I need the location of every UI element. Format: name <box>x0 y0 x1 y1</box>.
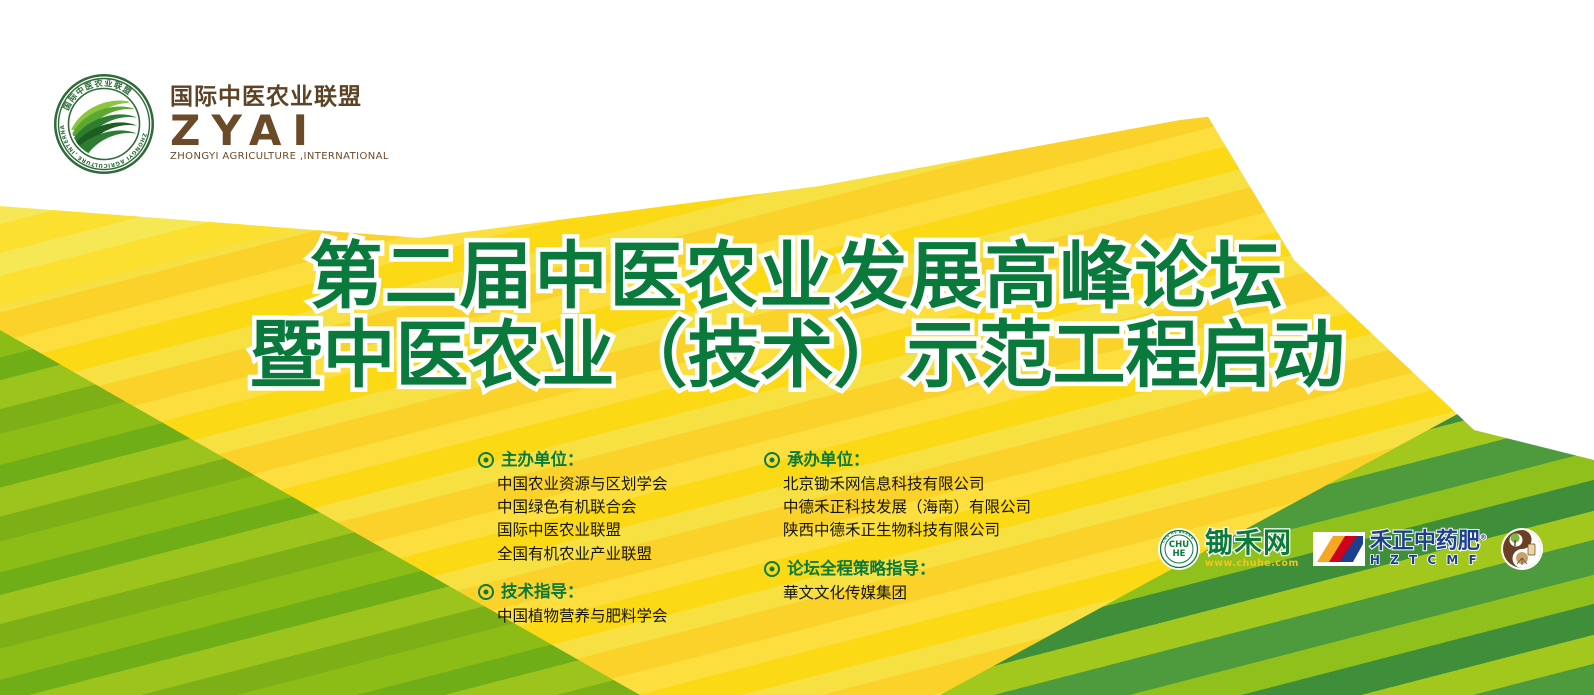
info-header: 主办单位： <box>478 448 736 472</box>
svg-text:HE: HE <box>1173 549 1186 559</box>
chuhe-url: www.chuhe.com <box>1205 558 1299 569</box>
zyai-logo-text: 国际中医农业联盟 ZYAI ZHONGYI AGRICULTURE ,INTER… <box>170 86 389 163</box>
list-item: 華文文化传媒集团 <box>764 582 1054 605</box>
info-header-label: 主办单位： <box>501 448 584 472</box>
bullet-ring-icon <box>478 452 494 468</box>
list-item: 北京锄禾网信息科技有限公司 <box>764 473 1054 496</box>
chuhe-name-cn: 锄禾网 <box>1205 529 1299 557</box>
list-item: 中德禾正科技发展（海南）有限公司 <box>764 496 1054 519</box>
tree-root-circle-seal-icon: ® <box>1501 528 1543 570</box>
zyai-seal-icon: 国际中医农业联盟 ZHONGYI AGRICULTURE ,INTERNATIO… <box>52 72 156 176</box>
sponsor-logos: CHU HE CHU HE BRAND 锄禾网 www.chuhe.com <box>1158 528 1543 570</box>
organizer-info: 主办单位： 中国农业资源与区划学会 中国绿色有机联合会 国际中医农业联盟 全国有… <box>478 448 1054 628</box>
sponsor-chuhe: CHU HE CHU HE BRAND 锄禾网 www.chuhe.com <box>1158 528 1299 570</box>
info-group-tech-guidance: 技术指导： 中国植物营养与肥料学会 <box>478 580 736 628</box>
registered-mark: ® <box>1480 533 1487 541</box>
info-header: 承办单位： <box>764 448 1054 472</box>
list-item: 中国农业资源与区划学会 <box>478 473 736 496</box>
bullet-ring-icon <box>764 561 780 577</box>
zyai-name-en: ZHONGYI AGRICULTURE ,INTERNATIONAL <box>170 152 389 162</box>
info-header: 论坛全程策略指导： <box>764 557 1054 581</box>
info-header-label: 承办单位： <box>787 448 870 472</box>
svg-text:®: ® <box>1538 532 1543 539</box>
list-item: 陕西中德禾正生物科技有限公司 <box>764 519 1054 542</box>
sponsor-hztcmf: 禾正中药肥® H Z T C M F <box>1313 531 1487 567</box>
info-header: 技术指导： <box>478 580 736 604</box>
info-group-strategy-guidance: 论坛全程策略指导： 華文文化传媒集团 <box>764 557 1054 605</box>
hztcmf-name-en: H Z T C M F <box>1370 553 1487 567</box>
hztcmf-name-block: 禾正中药肥® H Z T C M F <box>1370 531 1487 567</box>
info-header-label: 技术指导： <box>501 580 584 604</box>
list-item: 国际中医农业联盟 <box>478 519 736 542</box>
poster-canvas: 国际中医农业联盟 ZHONGYI AGRICULTURE ,INTERNATIO… <box>0 0 1594 695</box>
info-group-organizer: 承办单位： 北京锄禾网信息科技有限公司 中德禾正科技发展（海南）有限公司 陕西中… <box>764 448 1054 543</box>
hztcmf-name-cn: 禾正中药肥® <box>1370 531 1487 553</box>
chuhe-name-block: 锄禾网 www.chuhe.com <box>1205 529 1299 569</box>
bullet-ring-icon <box>764 452 780 468</box>
zyai-acronym: ZYAI <box>170 111 389 151</box>
bullet-ring-icon <box>478 584 494 600</box>
list-item: 中国植物营养与肥料学会 <box>478 605 736 628</box>
list-item: 中国绿色有机联合会 <box>478 496 736 519</box>
info-column-left: 主办单位： 中国农业资源与区划学会 中国绿色有机联合会 国际中医农业联盟 全国有… <box>478 448 736 628</box>
info-group-host: 主办单位： 中国农业资源与区划学会 中国绿色有机联合会 国际中医农业联盟 全国有… <box>478 448 736 566</box>
list-item: 全国有机农业产业联盟 <box>478 543 736 566</box>
chuhe-circle-seal-icon: CHU HE CHU HE BRAND <box>1158 528 1200 570</box>
info-header-label: 论坛全程策略指导： <box>787 557 936 581</box>
zyai-logo: 国际中医农业联盟 ZHONGYI AGRICULTURE ,INTERNATIO… <box>52 72 389 176</box>
info-column-right: 承办单位： 北京锄禾网信息科技有限公司 中德禾正科技发展（海南）有限公司 陕西中… <box>764 448 1054 628</box>
sponsor-tree-seal: ® <box>1501 528 1543 570</box>
z-stripe-mark-icon <box>1313 532 1365 566</box>
